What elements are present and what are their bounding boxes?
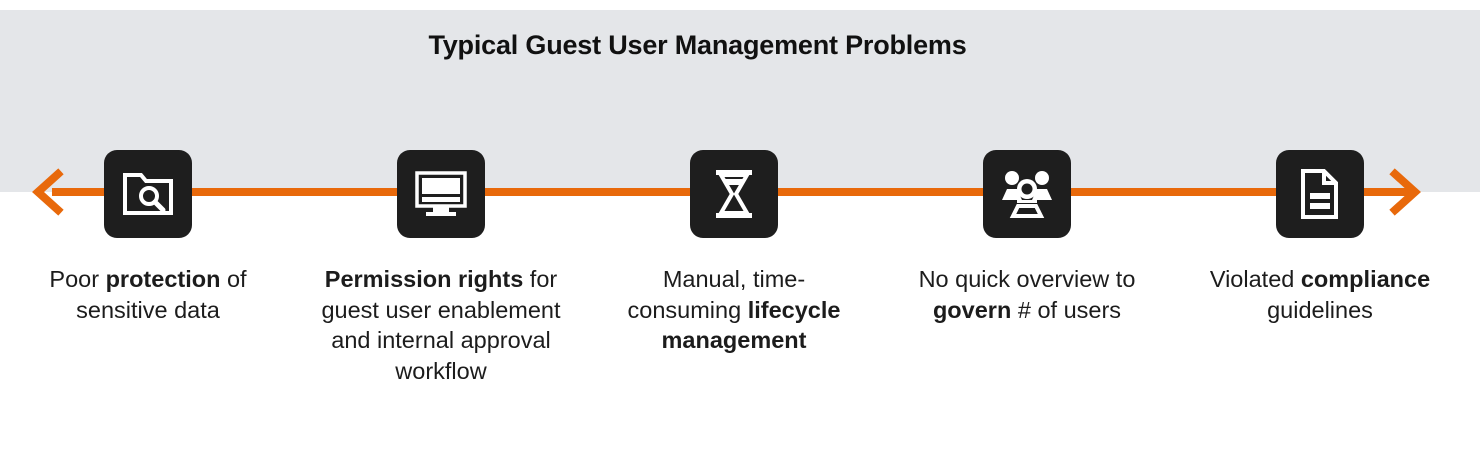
step-icon-tile-1: [104, 150, 192, 238]
step-icon-tile-3: [690, 150, 778, 238]
step-icon-tile-4: [983, 150, 1071, 238]
step-caption-text: Manual, time-consuming lifecycle managem…: [628, 266, 841, 353]
step-caption-5: Violated compliance guidelines: [1195, 264, 1445, 325]
step-caption-text: Permission rights for guest user enablem…: [321, 266, 560, 384]
document-icon: [1298, 168, 1342, 220]
guest-user-problems-infographic: Typical Guest User Management Problems: [0, 0, 1480, 462]
step-caption-4: No quick overview to govern # of users: [902, 264, 1152, 325]
step-icon-tile-5: [1276, 150, 1364, 238]
step-icon-tile-2: [397, 150, 485, 238]
page-title: Typical Guest User Management Problems: [0, 30, 1395, 61]
user-group-icon: [999, 169, 1055, 219]
monitor-icon: [414, 170, 468, 218]
hourglass-icon: [712, 168, 756, 220]
step-caption-3: Manual, time-consuming lifecycle managem…: [609, 264, 859, 356]
arrow-left-icon: [32, 168, 80, 216]
step-caption-text: Violated compliance guidelines: [1210, 266, 1430, 323]
step-caption-text: No quick overview to govern # of users: [919, 266, 1136, 323]
step-caption-1: Poor protection of sensitive data: [23, 264, 273, 325]
folder-search-icon: [122, 169, 174, 219]
arrow-right-icon: [1385, 168, 1433, 216]
step-caption-text: Poor protection of sensitive data: [49, 266, 246, 323]
step-caption-2: Permission rights for guest user enablem…: [316, 264, 566, 386]
